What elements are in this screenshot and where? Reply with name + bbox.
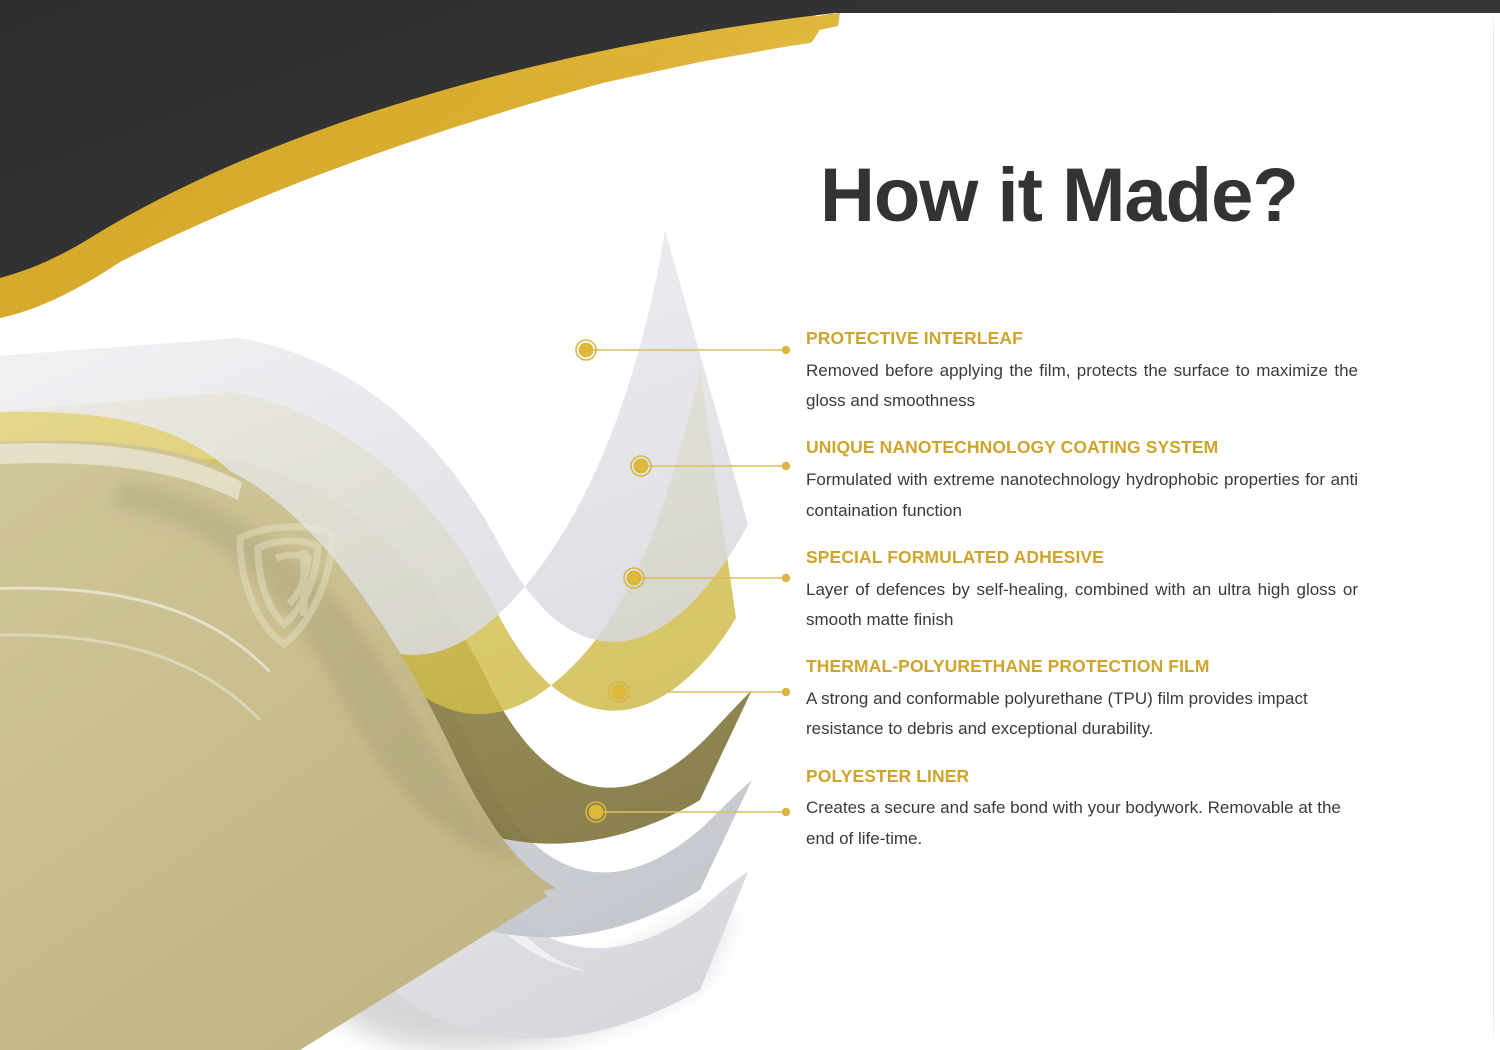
gold-swoosh-body xyxy=(0,14,830,186)
layer-item-polyester-liner: POLYESTER LINER Creates a secure and saf… xyxy=(806,766,1358,854)
layer-title-polyester-liner: POLYESTER LINER xyxy=(806,766,1358,788)
page-edge-hairline xyxy=(1493,0,1494,1050)
layer-item-adhesive: SPECIAL FORMULATED ADHESIVE Layer of def… xyxy=(806,547,1358,635)
layer-desc-adhesive: Layer of defences by self-healing, combi… xyxy=(806,575,1358,636)
layer-title-tpu: THERMAL-POLYURETHANE PROTECTION FILM xyxy=(806,656,1358,678)
layer-item-protective-interleaf: PROTECTIVE INTERLEAF Removed before appl… xyxy=(806,328,1358,416)
layer-desc-protective-interleaf: Removed before applying the film, protec… xyxy=(806,356,1358,417)
layer-desc-nano-coating: Formulated with extreme nanotechnology h… xyxy=(806,465,1358,526)
layer-description-list: PROTECTIVE INTERLEAF Removed before appl… xyxy=(806,328,1358,854)
layer-title-nano-coating: UNIQUE NANOTECHNOLOGY COATING SYSTEM xyxy=(806,437,1358,459)
layer-title-protective-interleaf: PROTECTIVE INTERLEAF xyxy=(806,328,1358,350)
infographic-page: How it Made? xyxy=(0,0,1500,1050)
layer-title-adhesive: SPECIAL FORMULATED ADHESIVE xyxy=(806,547,1358,569)
layer-item-tpu: THERMAL-POLYURETHANE PROTECTION FILM A s… xyxy=(806,656,1358,744)
layer-desc-polyester-liner: Creates a secure and safe bond with your… xyxy=(806,793,1358,854)
page-title: How it Made? xyxy=(820,156,1298,236)
film-layers-illustration xyxy=(0,220,790,1050)
layer-item-nano-coating: UNIQUE NANOTECHNOLOGY COATING SYSTEM For… xyxy=(806,437,1358,525)
layer-desc-tpu: A strong and conformable polyurethane (T… xyxy=(806,684,1358,745)
gold-swoosh xyxy=(0,12,816,186)
